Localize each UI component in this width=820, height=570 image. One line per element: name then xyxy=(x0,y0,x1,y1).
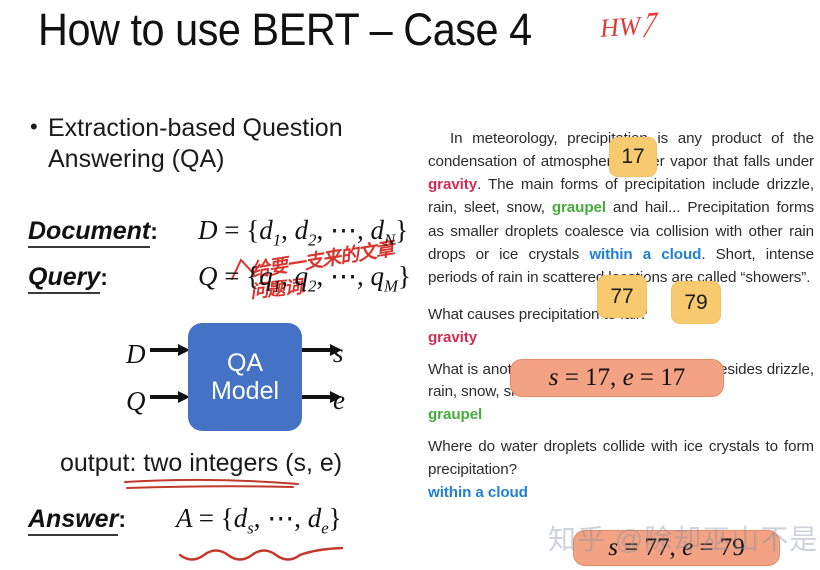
qa-model-line2: Model xyxy=(211,377,279,405)
token-index-badge-79: 79 xyxy=(671,281,721,324)
qa-model-line1: QA xyxy=(227,349,263,377)
answer-definition-row: Answer: A = {ds, ⋯, de} xyxy=(28,505,126,534)
output-text: output: two integers (s, e) xyxy=(60,449,342,477)
red-squiggle-annotation xyxy=(178,545,368,563)
query-formula: Q = {q1, q2, ⋯, qM} xyxy=(198,261,411,296)
red-double-underline-annotation xyxy=(123,477,303,493)
answer-formula: A = {ds, ⋯, de} xyxy=(176,503,342,538)
bullet-label: Extraction-based Question Answering (QA) xyxy=(48,114,343,173)
query-definition-row: Query: Q = {q1, q2, ⋯, qM} xyxy=(28,263,108,292)
handwritten-hw-annotation: HW7 xyxy=(599,10,656,44)
answer-rhs: {ds, ⋯, de} xyxy=(221,503,342,533)
answer-label: Answer xyxy=(28,505,118,536)
bullet-item-qa: • Extraction-based Question Answering (Q… xyxy=(48,113,388,174)
document-lhs: D xyxy=(198,215,218,245)
arrow-q-to-model-icon xyxy=(150,390,190,404)
qa-model-diagram: D Q QA Model s e xyxy=(88,323,388,435)
document-rhs: {d1, d2, ⋯, dN} xyxy=(246,215,408,245)
token-index-badge-17: 17 xyxy=(609,137,657,177)
qa-model-box: QA Model xyxy=(188,323,302,431)
paragraph-keyword-blue: within a cloud xyxy=(589,246,701,263)
qa-answer: gravity xyxy=(428,327,814,350)
page-title: How to use BERT – Case 4 xyxy=(38,4,532,56)
arrow-d-to-model-icon xyxy=(150,343,190,357)
diagram-input-q-label: Q xyxy=(126,386,146,417)
diagram-input-d-label: D xyxy=(126,339,146,370)
bullet-dot-icon: • xyxy=(30,114,38,141)
se-answer-badge-2: s = 77, e = 79 xyxy=(573,530,780,566)
se-badge-2-text: s = 77, e = 79 xyxy=(608,534,745,562)
qa-answer: graupel xyxy=(428,404,814,427)
qa-list: What causes precipitation to fall?gravit… xyxy=(428,304,814,504)
paragraph-keyword-red: gravity xyxy=(428,176,477,193)
document-formula: D = {d1, d2, ⋯, dN} xyxy=(198,215,408,250)
document-definition-row: Document: D = {d1, d2, ⋯, dN} xyxy=(28,217,158,246)
query-label: Query xyxy=(28,263,100,294)
answer-lhs: A xyxy=(176,503,192,533)
output-description: output: two integers (s, e) xyxy=(60,449,342,478)
qa-question: Where do water droplets collide with ice… xyxy=(428,436,814,482)
qa-answer: within a cloud xyxy=(428,482,814,505)
document-label: Document xyxy=(28,217,150,248)
left-column: • Extraction-based Question Answering (Q… xyxy=(28,105,428,565)
se-answer-badge-1: s = 17, e = 17 xyxy=(510,359,724,397)
query-rhs: {q1, q2, ⋯, qM} xyxy=(246,261,411,291)
answer-colon: : xyxy=(118,506,126,532)
query-colon: : xyxy=(100,264,108,290)
document-colon: : xyxy=(150,218,158,244)
hw-slash: 7 xyxy=(640,6,659,48)
slide-canvas: How to use BERT – Case 4 HW7 • Extractio… xyxy=(0,0,820,570)
qa-item: Where do water droplets collide with ice… xyxy=(428,436,814,504)
hw-text: HW xyxy=(599,11,641,43)
se-badge-1-text: s = 17, e = 17 xyxy=(549,364,686,392)
paragraph-keyword-green: graupel xyxy=(552,199,606,216)
query-lhs: Q xyxy=(198,261,218,291)
answer-eq: = xyxy=(199,503,214,533)
diagram-output-s-label: s xyxy=(333,338,344,369)
query-eq: = xyxy=(224,261,239,291)
document-eq: = xyxy=(224,215,239,245)
diagram-output-e-label: e xyxy=(333,385,345,416)
token-index-badge-77: 77 xyxy=(597,275,647,318)
